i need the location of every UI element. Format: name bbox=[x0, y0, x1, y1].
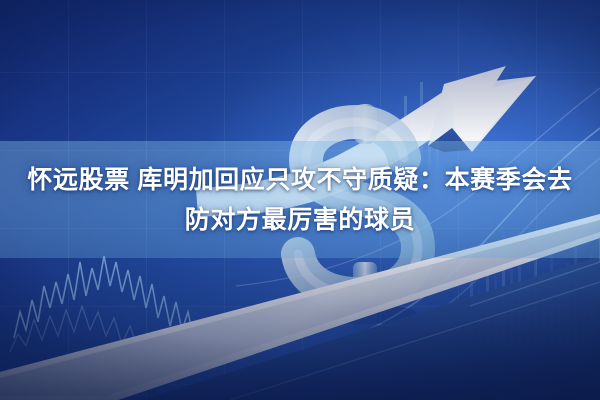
headline-line-2: 防对方最厉害的球员 bbox=[185, 201, 415, 239]
headline-line-1: 怀远股票 库明加回应只攻不守质疑：本赛季会去 bbox=[27, 161, 572, 199]
headline-text-block: 怀远股票 库明加回应只攻不守质疑：本赛季会去 防对方最厉害的球员 bbox=[0, 141, 600, 258]
stock-news-banner: 怀远股票 库明加回应只攻不守质疑：本赛季会去 防对方最厉害的球员 bbox=[0, 0, 600, 400]
